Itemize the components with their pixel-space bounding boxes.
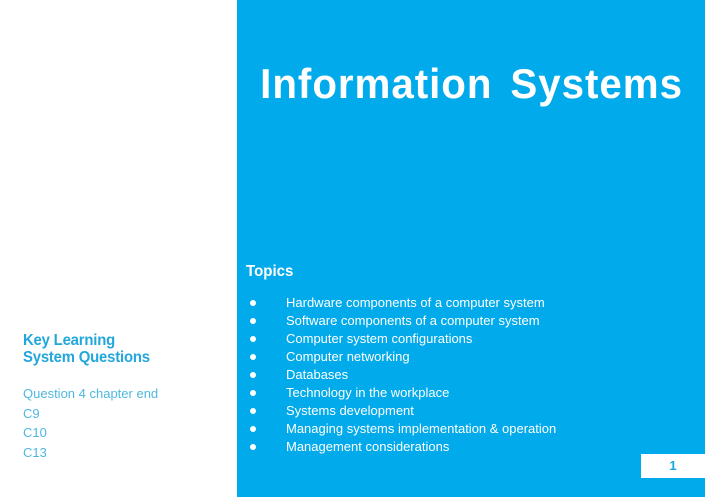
slide-title: Information Systems	[255, 62, 683, 106]
list-item-label: Managing systems implementation & operat…	[286, 421, 556, 436]
list-item: Databases	[246, 366, 696, 384]
bullet-icon	[250, 372, 256, 378]
bullet-icon	[250, 390, 256, 396]
sidebar-heading-line-1: Key Learning	[23, 332, 209, 349]
page-number: 1	[641, 454, 705, 478]
sidebar-heading: Key Learning System Questions	[23, 332, 209, 366]
sidebar: Key Learning System Questions Question 4…	[0, 0, 237, 500]
list-item: Managing systems implementation & operat…	[246, 420, 696, 438]
list-item-label: Databases	[286, 367, 348, 382]
list-item: C13	[23, 443, 233, 463]
list-item-label: Technology in the workplace	[286, 385, 449, 400]
bullet-icon	[250, 300, 256, 306]
list-item: Computer networking	[246, 348, 696, 366]
list-item: Question 4 chapter end	[23, 384, 233, 404]
bullet-icon	[250, 318, 256, 324]
bullet-icon	[250, 426, 256, 432]
list-item: Computer system configurations	[246, 330, 696, 348]
bullet-icon	[250, 336, 256, 342]
list-item: Systems development	[246, 402, 696, 420]
bullet-icon	[250, 408, 256, 414]
list-item: Hardware components of a computer system	[246, 294, 696, 312]
list-item: Software components of a computer system	[246, 312, 696, 330]
presentation-slide: Key Learning System Questions Question 4…	[0, 0, 705, 500]
list-item-label: Systems development	[286, 403, 414, 418]
sidebar-heading-line-2: System Questions	[23, 349, 209, 366]
topics-heading: Topics	[246, 262, 293, 281]
sidebar-question-list: Question 4 chapter end C9 C10 C13	[23, 384, 233, 462]
topics-list: Hardware components of a computer system…	[246, 294, 696, 456]
list-item: C10	[23, 423, 233, 443]
bullet-icon	[250, 354, 256, 360]
list-item-label: Management considerations	[286, 439, 449, 454]
bullet-icon	[250, 444, 256, 450]
list-item-label: Computer system configurations	[286, 331, 472, 346]
list-item: C9	[23, 404, 233, 424]
list-item-label: Computer networking	[286, 349, 410, 364]
list-item: Management considerations	[246, 438, 696, 456]
page-number-plate: 1	[641, 454, 705, 478]
slide-content-panel: Information Systems Topics Hardware comp…	[237, 0, 705, 497]
list-item-label: Software components of a computer system	[286, 313, 540, 328]
list-item-label: Hardware components of a computer system	[286, 295, 545, 310]
list-item: Technology in the workplace	[246, 384, 696, 402]
